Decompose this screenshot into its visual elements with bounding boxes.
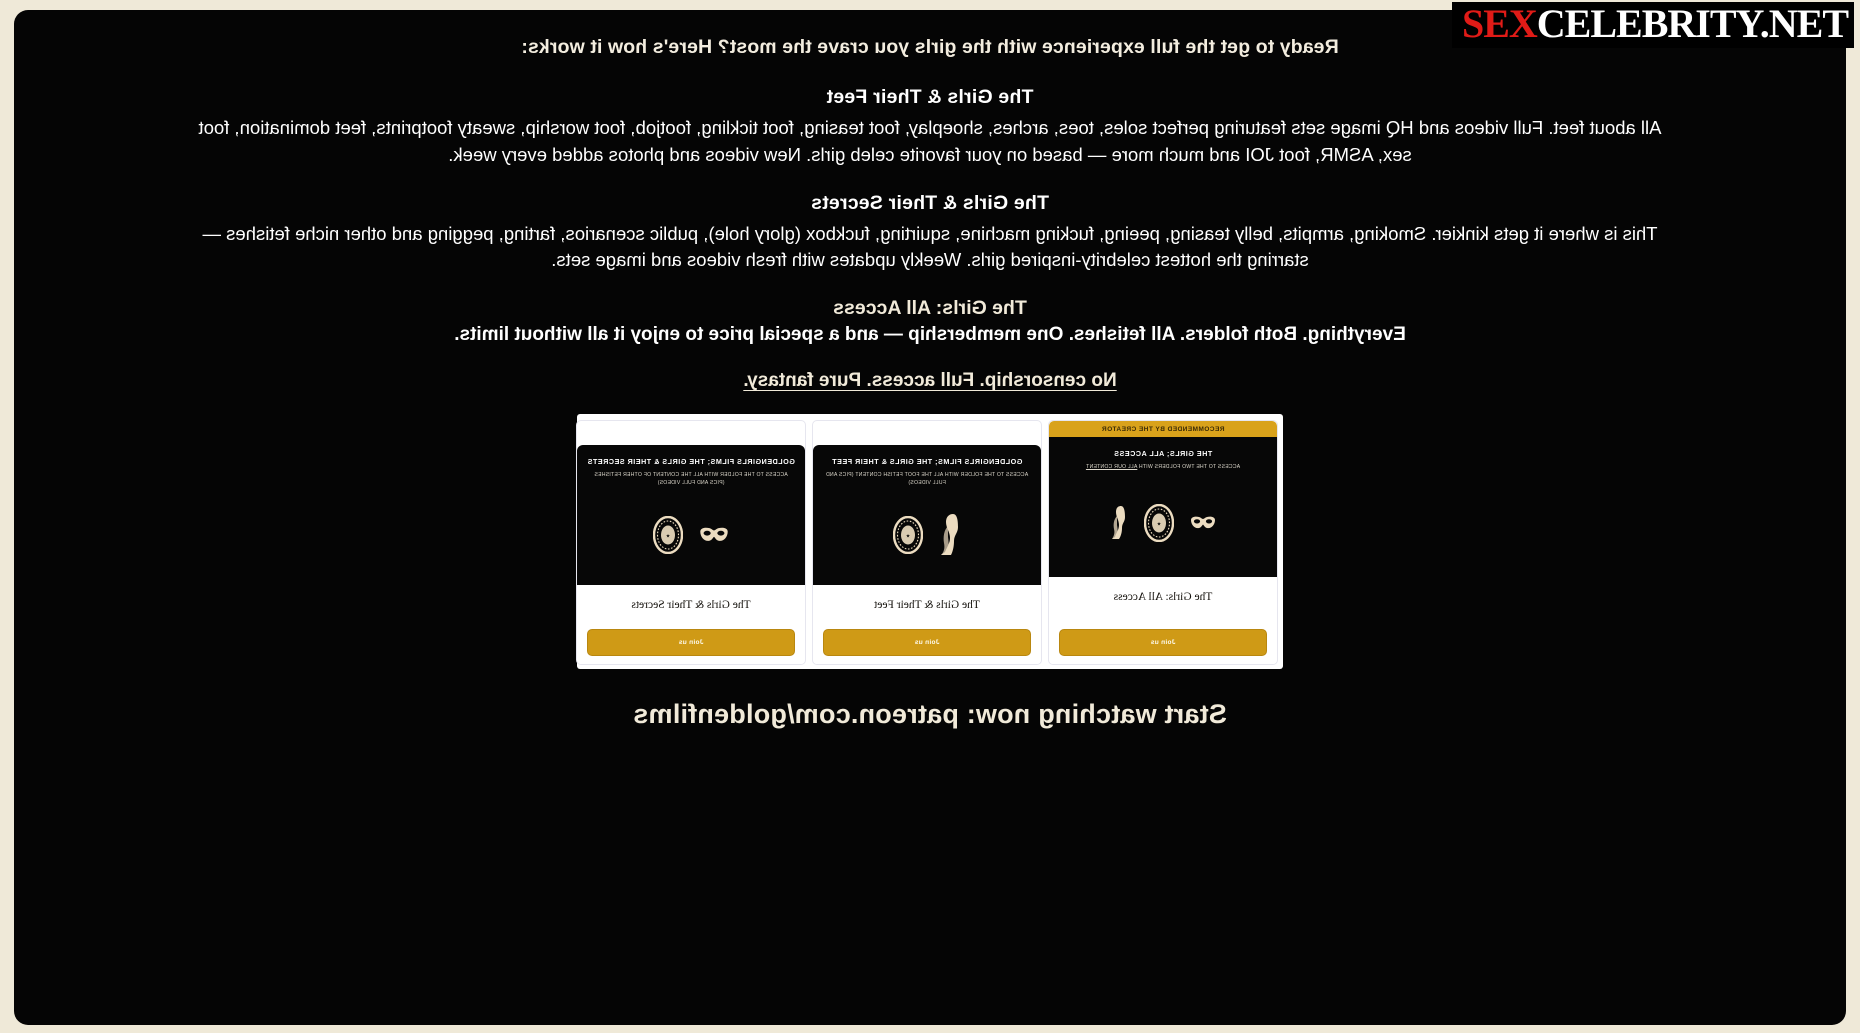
card-header-secrets: GOLDENGIRLS FILMS; THE GIRLS & THEIR SEC… [577,445,805,585]
card-body-all-access: The Girls: All Access Join us [1049,577,1277,664]
card-subtitle-all-access: ACCESS TO THE TWO FOLDERS WITH ALL OUR C… [1086,464,1240,472]
card-body-secrets: The Girls & Their Secrets Join us [577,585,805,664]
section-all-access-heading: The Girls: All Access [184,297,1676,320]
legs-icon [1110,506,1128,545]
svg-text:★: ★ [665,534,670,540]
page-frame: Ready to get the full experience with th… [0,0,1860,1033]
call-to-action: Start watching now: patreon.com/goldenfi… [184,699,1676,730]
card-subtitle-secrets: ACCESS TO THE FOLDER WITH ALL THE CONTEN… [587,472,795,487]
mirrored-document-stage: Ready to get the full experience with th… [14,10,1846,1025]
section-feet: The Girls & Their Feet All about feet. F… [184,86,1676,168]
card-name-all-access: The Girls: All Access [1059,591,1267,603]
section-secrets: The Girls & Their Secrets This is where … [184,192,1676,274]
section-all-access-body: Everything. Both folders. All fetishes. … [184,324,1676,346]
svg-text:★: ★ [1156,522,1161,528]
pricing-card-secrets[interactable]: GOLDENGIRLS FILMS; THE GIRLS & THEIR SEC… [576,420,806,665]
promo-content: Ready to get the full experience with th… [14,10,1846,1025]
card-header-all-access: THE GIRLS; ALL ACCESS ACCESS TO THE TWO … [1049,437,1277,577]
card-icons-all-access: ★ [1110,486,1216,565]
card-body-feet: The Girls & Their Feet Join us [813,585,1041,664]
section-secrets-heading: The Girls & Their Secrets [184,192,1676,215]
join-us-button-secrets[interactable]: Join us [587,629,795,656]
legs-icon [939,514,961,561]
recommended-ribbon: RECOMMENDED BY THE CREATOR [1049,421,1277,437]
card-icons-feet: ★ [893,502,961,574]
tagline-link[interactable]: No censorship. Full access. Pure fantasy… [184,370,1676,392]
card-icons-secrets: ★ [653,502,729,574]
card-subtitle-text: ACCESS TO THE TWO FOLDERS WITH [1137,464,1240,470]
join-us-button-all-access[interactable]: Join us [1059,629,1267,656]
svg-text:★: ★ [905,534,910,540]
section-all-access: The Girls: All Access Everything. Both f… [184,297,1676,346]
card-name-secrets: The Girls & Their Secrets [587,599,795,611]
section-secrets-body: This is where it gets kinkier. Smoking, … [184,221,1676,274]
card-title-all-access: THE GIRLS; ALL ACCESS [1114,449,1212,458]
pricing-card-feet[interactable]: GOLDENGIRLS FILMS; THE GIRLS & THEIR FEE… [812,420,1042,665]
card-title-secrets: GOLDENGIRLS FILMS; THE GIRLS & THEIR SEC… [587,457,795,466]
card-title-feet: GOLDENGIRLS FILMS; THE GIRLS & THEIR FEE… [832,457,1023,466]
seal-badge-icon: ★ [893,516,923,559]
section-feet-body: All about feet. Full videos and HQ image… [184,115,1676,168]
card-subtitle-feet: ACCESS TO THE FOLDER WITH ALL THE FOOT F… [823,472,1031,487]
seal-badge-icon: ★ [653,516,683,559]
card-name-feet: The Girls & Their Feet [823,599,1031,611]
watermark-white-text: CELEBRITY.NET [1537,1,1848,46]
site-watermark: SEXCELEBRITY.NET [1452,2,1854,48]
card-header-feet: GOLDENGIRLS FILMS; THE GIRLS & THEIR FEE… [813,445,1041,585]
section-feet-heading: The Girls & Their Feet [184,86,1676,109]
watermark-red-text: SEX [1462,1,1537,46]
card-subtitle-emphasis: ALL OUR CONTENT [1086,464,1137,470]
seal-badge-icon: ★ [1144,504,1174,547]
pricing-card-all-access[interactable]: RECOMMENDED BY THE CREATOR THE GIRLS; AL… [1048,420,1278,665]
mask-icon [1190,516,1216,535]
join-us-button-feet[interactable]: Join us [823,629,1031,656]
pricing-cards-image: RECOMMENDED BY THE CREATOR THE GIRLS; AL… [577,414,1283,669]
mask-icon [699,527,729,548]
